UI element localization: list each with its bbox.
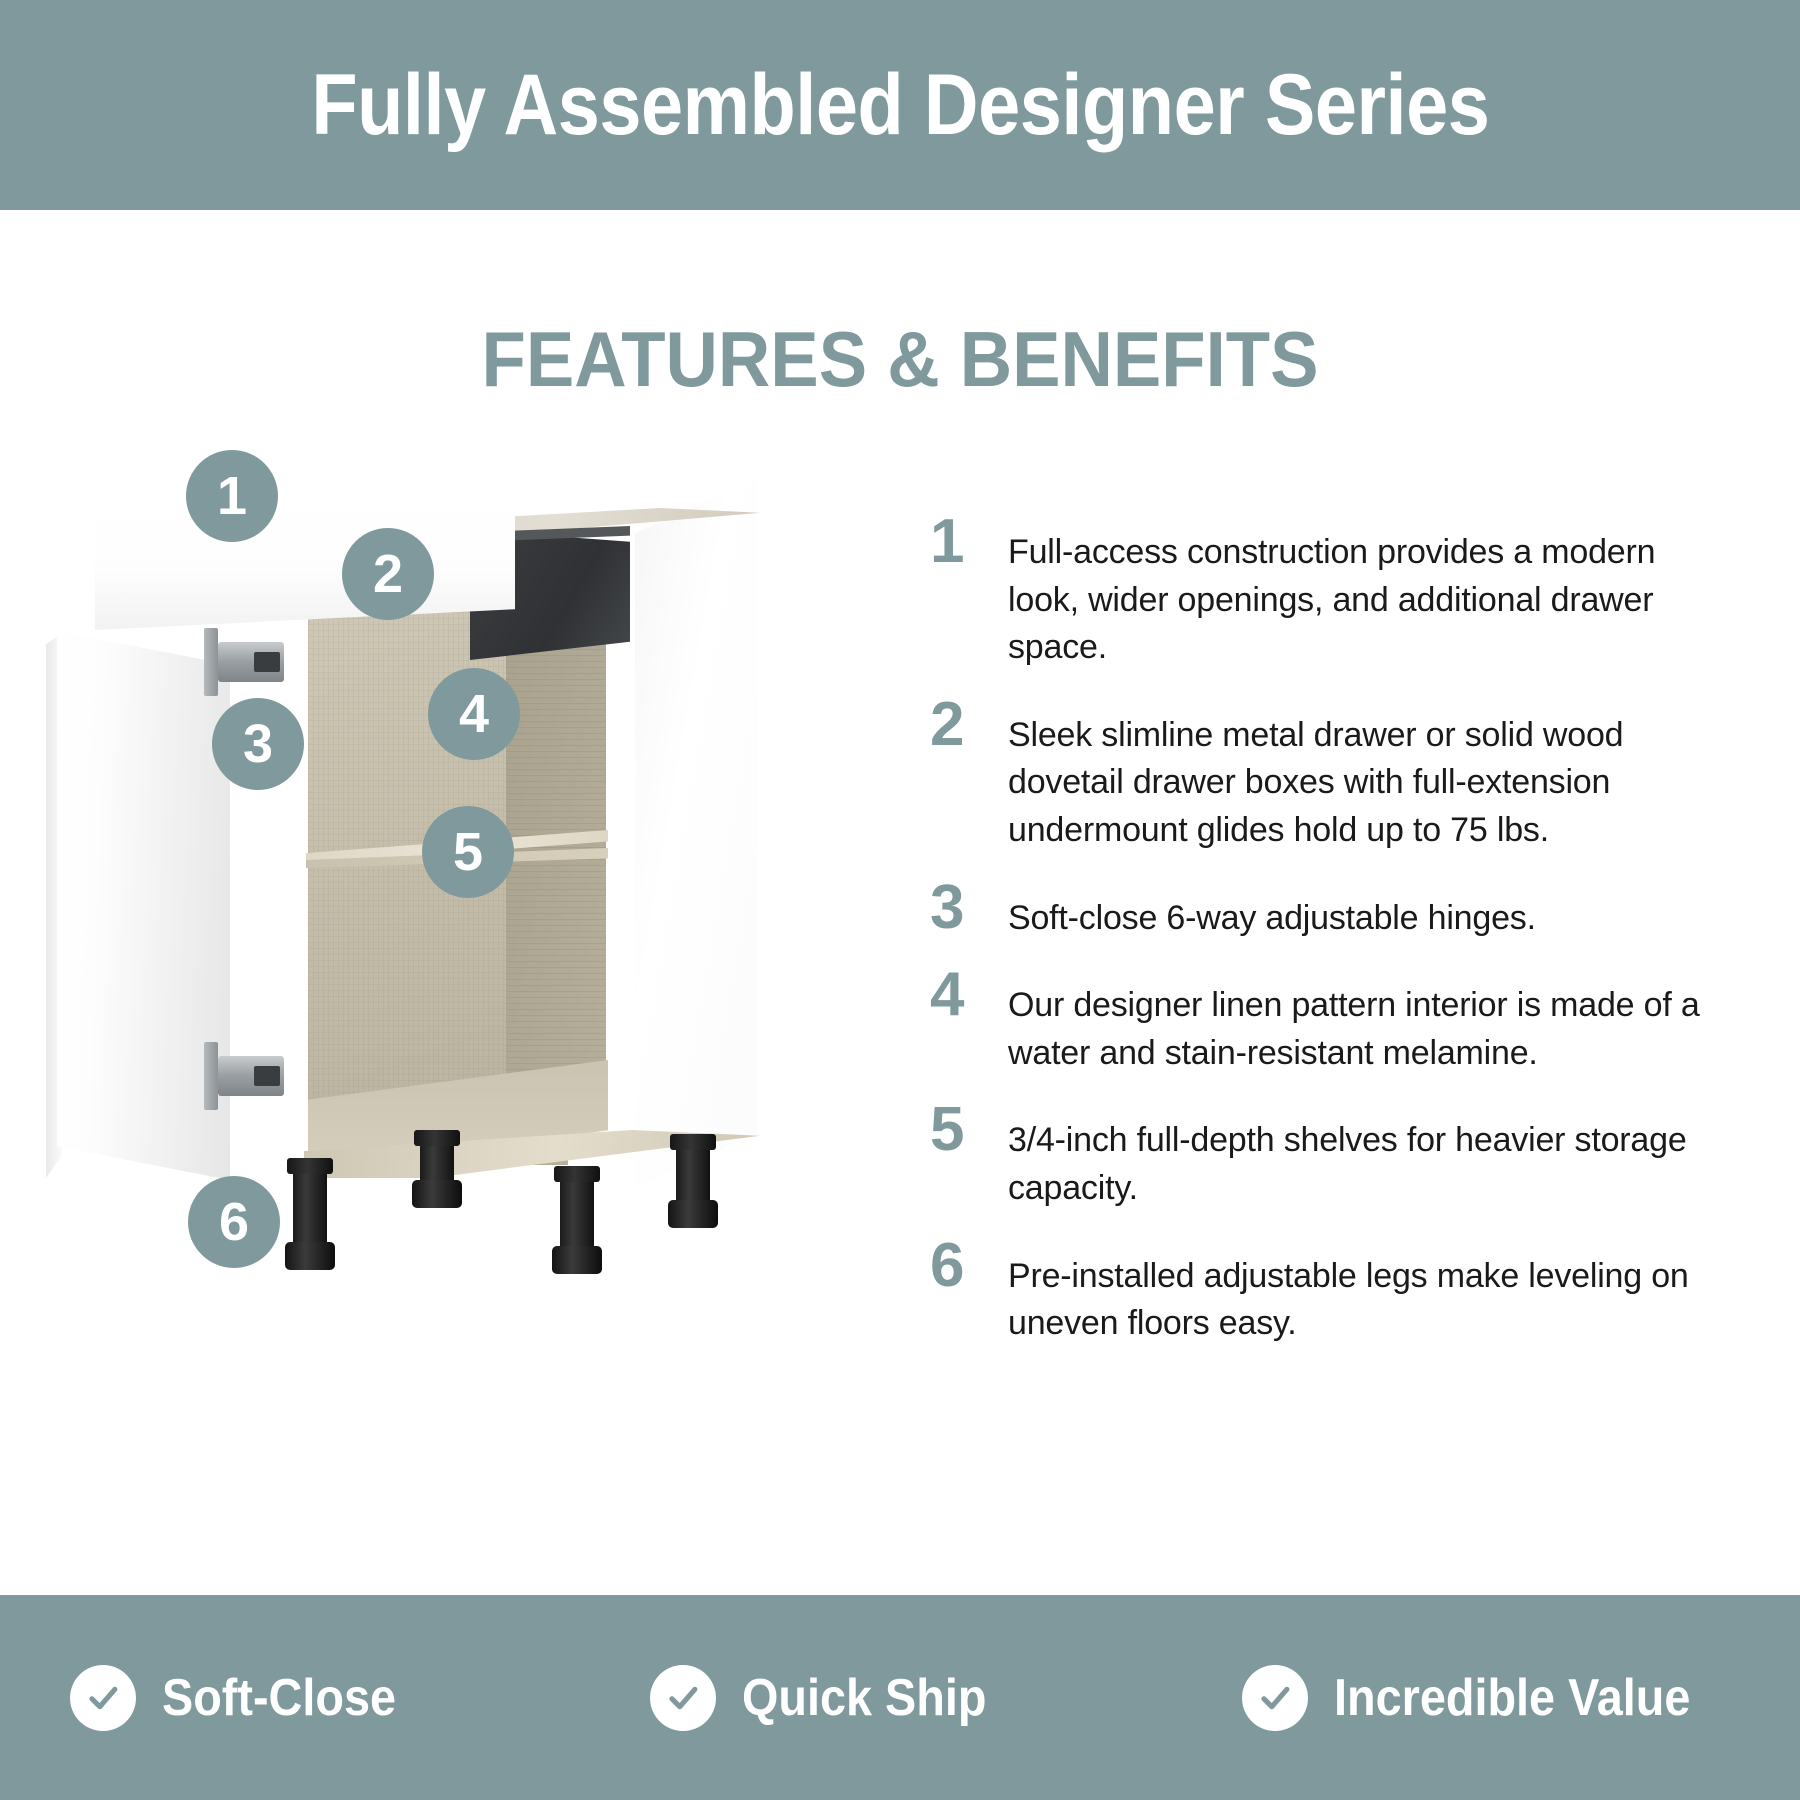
callout-badge-6: 6 xyxy=(188,1176,280,1268)
adjustable-leg xyxy=(676,1146,710,1224)
footer-badges: Soft-Close Quick Ship Incredible Value xyxy=(0,1665,1800,1731)
footer-badge-label: Incredible Value xyxy=(1334,1672,1690,1724)
adjustable-leg xyxy=(293,1170,327,1266)
check-icon xyxy=(70,1665,136,1731)
feature-number: 6 xyxy=(930,1239,1008,1292)
feature-number: 2 xyxy=(930,698,1008,751)
feature-description: Soft-close 6-way adjustable hinges. xyxy=(1008,881,1720,943)
feature-item: 2 Sleek slimline metal drawer or solid w… xyxy=(930,698,1720,855)
feature-description: Sleek slimline metal drawer or solid woo… xyxy=(1008,698,1720,855)
feature-number: 5 xyxy=(930,1103,1008,1156)
check-icon xyxy=(1242,1665,1308,1731)
soft-close-hinge-bottom xyxy=(218,1056,284,1096)
callout-badge-5: 5 xyxy=(422,806,514,898)
footer-bar: Soft-Close Quick Ship Incredible Value xyxy=(0,1595,1800,1800)
drawer-front-panel xyxy=(95,500,515,630)
cabinet-side-panel xyxy=(632,478,757,1190)
footer-badge-soft-close: Soft-Close xyxy=(70,1665,422,1731)
infographic-page: Fully Assembled Designer Series FEATURES… xyxy=(0,0,1800,1800)
feature-number: 4 xyxy=(930,968,1008,1021)
feature-description: 3/4-inch full-depth shelves for heavier … xyxy=(1008,1103,1720,1212)
footer-badge-label: Soft-Close xyxy=(162,1672,396,1724)
header-bar: Fully Assembled Designer Series xyxy=(0,0,1800,210)
adjustable-leg xyxy=(560,1178,594,1270)
adjustable-leg xyxy=(420,1142,454,1204)
callout-badge-3: 3 xyxy=(212,698,304,790)
feature-description: Our designer linen pattern interior is m… xyxy=(1008,968,1720,1077)
soft-close-hinge-top xyxy=(218,642,284,682)
feature-item: 6 Pre-installed adjustable legs make lev… xyxy=(930,1239,1720,1348)
feature-item: 3 Soft-close 6-way adjustable hinges. xyxy=(930,881,1720,943)
feature-number: 1 xyxy=(930,515,1008,568)
features-list: 1 Full-access construction provides a mo… xyxy=(930,515,1720,1374)
footer-badge-label: Quick Ship xyxy=(742,1672,986,1724)
feature-item: 1 Full-access construction provides a mo… xyxy=(930,515,1720,672)
feature-description: Pre-installed adjustable legs make level… xyxy=(1008,1239,1720,1348)
cabinet-door-panel xyxy=(50,620,230,1180)
page-title: Fully Assembled Designer Series xyxy=(311,62,1489,148)
check-icon xyxy=(650,1665,716,1731)
section-title: FEATURES & BENEFITS xyxy=(63,320,1737,398)
product-illustration: 1 2 3 4 5 6 xyxy=(40,430,800,1430)
feature-item: 4 Our designer linen pattern interior is… xyxy=(930,968,1720,1077)
callout-badge-1: 1 xyxy=(186,450,278,542)
feature-item: 5 3/4-inch full-depth shelves for heavie… xyxy=(930,1103,1720,1212)
callout-badge-2: 2 xyxy=(342,528,434,620)
feature-number: 3 xyxy=(930,881,1008,934)
footer-badge-quick-ship: Quick Ship xyxy=(650,1665,1014,1731)
callout-badge-4: 4 xyxy=(428,668,520,760)
footer-badge-incredible-value: Incredible Value xyxy=(1242,1665,1730,1731)
feature-description: Full-access construction provides a mode… xyxy=(1008,515,1720,672)
